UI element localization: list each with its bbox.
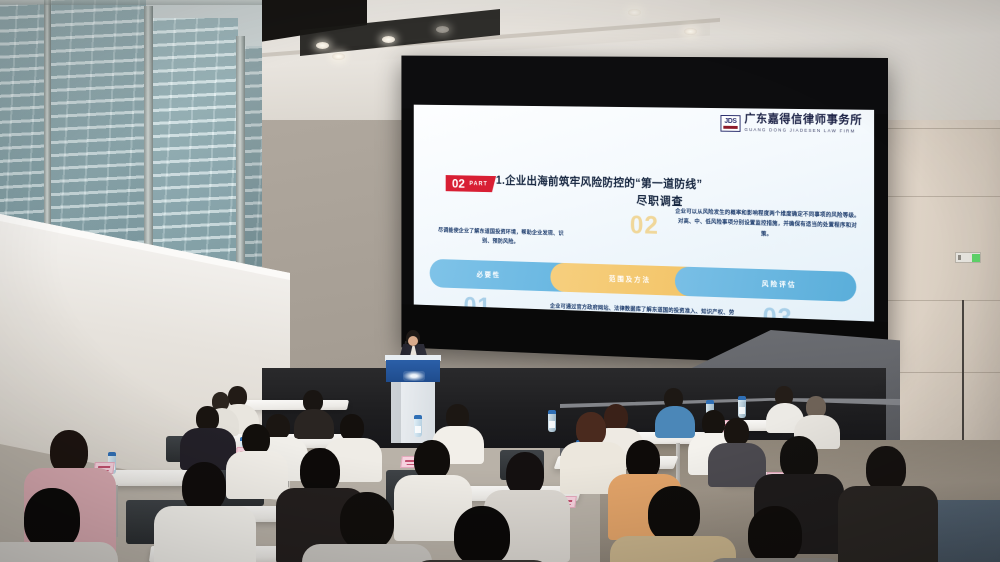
downlight-icon (332, 53, 345, 60)
slide-pill-row: 必要性 范围及方法 风险评估 (430, 259, 857, 302)
logo-mark-bar (723, 125, 737, 128)
pill-necessity-label: 必要性 (477, 270, 501, 280)
slide-text-left: 尽调能使企业了解东道国投资环境，帮助企业发现、识别、预防风险。 (433, 226, 569, 250)
downlight-icon (316, 42, 329, 49)
firm-logo: JDS 广东嘉得信律师事务所 GUANG DONG JIADESEN LAW F… (720, 114, 862, 134)
logo-chinese-name: 广东嘉得信律师事务所 (744, 114, 862, 127)
downlight-icon (684, 28, 697, 35)
projection-screen: JDS 广东嘉得信律师事务所 GUANG DONG JIADESEN LAW F… (401, 56, 888, 368)
part-word: PART (469, 181, 488, 187)
jds-monogram-icon: JDS (720, 115, 740, 132)
logo-english-name: GUANG DONG JIADESEN LAW FIRM (744, 128, 862, 134)
speaker-podium (385, 355, 441, 443)
water-bottle (738, 396, 746, 418)
water-bottle (548, 410, 556, 432)
downlight-icon (382, 36, 395, 43)
conference-photo: JDS 广东嘉得信律师事务所 GUANG DONG JIADESEN LAW F… (0, 0, 1000, 562)
podium-emblem-icon (403, 371, 425, 381)
water-bottle (414, 415, 422, 437)
pill-risk-assessment-label: 风险评估 (762, 279, 797, 290)
podium-shadow (391, 382, 401, 443)
pill-risk-assessment: 风险评估 (675, 266, 856, 301)
slide-text-right: 企业可以从风险发生的概率和影响程度两个维度确定不同事项的风险等级。对高、中、低风… (675, 207, 860, 242)
part-number: 02 (452, 177, 465, 190)
downlight-icon (436, 26, 449, 33)
pill-scope-method-label: 范围及方法 (609, 274, 651, 285)
part-badge: 02 PART (446, 175, 496, 192)
presentation-slide: JDS 广东嘉得信律师事务所 GUANG DONG JIADESEN LAW F… (414, 105, 874, 322)
logo-mark-text: JDS (724, 118, 736, 125)
slide-number-02: 02 (630, 212, 659, 238)
downlight-icon (628, 9, 641, 16)
podium-front-panel (386, 360, 440, 382)
speaker-face (408, 336, 418, 346)
emergency-exit-sign (955, 252, 981, 263)
